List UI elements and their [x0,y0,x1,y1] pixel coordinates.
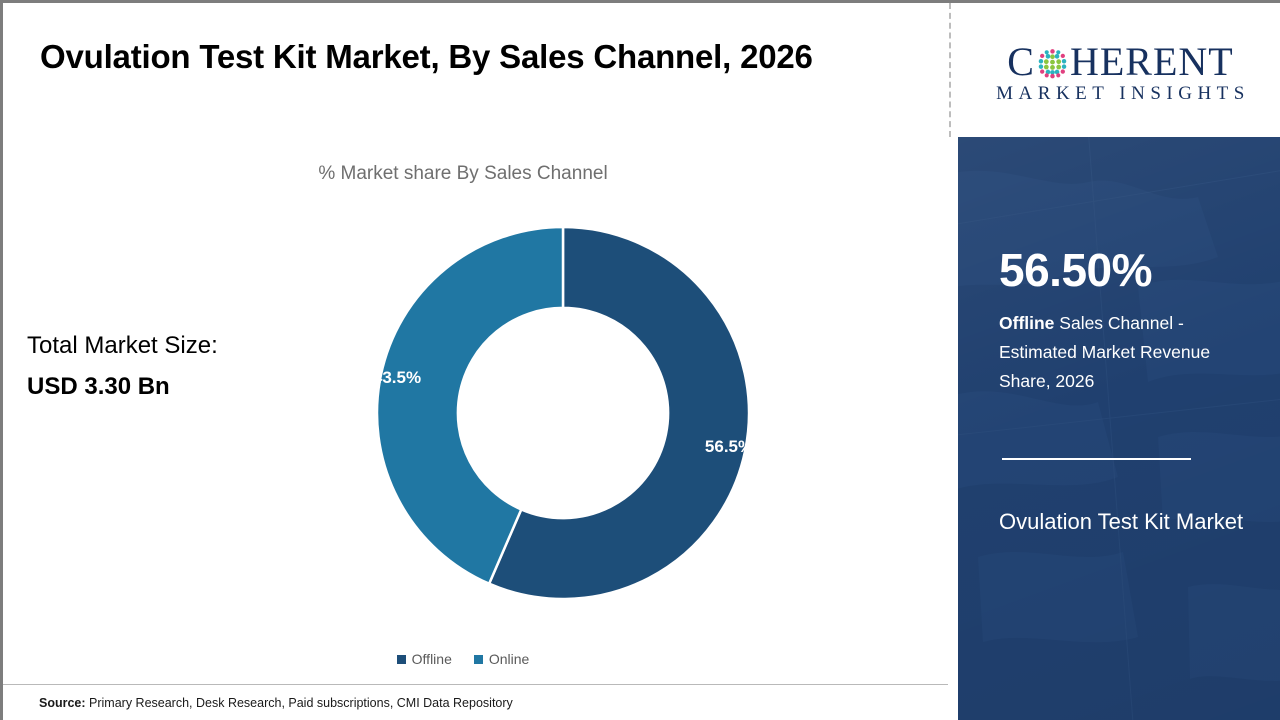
chart-legend: OfflineOnline [3,651,923,667]
market-size-value: USD 3.30 Bn [27,367,327,408]
total-market-size: Total Market Size: USD 3.30 Bn [27,326,327,408]
brand-tagline: MARKET INSIGHTS [991,83,1250,105]
legend-swatch-online [474,655,483,664]
donut-label-offline: 56.5% [705,437,753,456]
globe-dots-icon [1036,46,1069,79]
stat-panel: 56.50% Offline Sales Channel - Estimated… [958,137,1280,720]
market-name-label: Ovulation Test Kit Market [999,502,1244,543]
legend-item-online[interactable]: Online [474,651,529,667]
source-note: Source: Primary Research, Desk Research,… [39,696,513,710]
market-size-label: Total Market Size: [27,326,327,367]
legend-swatch-offline [397,655,406,664]
chart-subtitle: % Market share By Sales Channel [3,163,923,185]
infographic-root: Ovulation Test Kit Market, By Sales Chan… [0,0,1280,720]
legend-item-offline[interactable]: Offline [397,651,452,667]
legend-label: Online [489,651,529,667]
stat-caption: Offline Sales Channel - Estimated Market… [999,309,1249,396]
panel-divider-dashed [949,3,951,137]
source-text: Primary Research, Desk Research, Paid su… [86,696,513,710]
stat-divider-line [1002,458,1191,460]
brand-name-part1: C [1007,42,1035,82]
donut-chart: 56.5% 43.5% [373,223,753,603]
donut-chart-svg: 56.5% 43.5% [373,223,753,603]
footer-divider [3,684,948,685]
stat-headline-number: 56.50% [999,247,1152,293]
donut-label-online: 43.5% [373,368,421,387]
brand-wordmark: C [1007,42,1233,82]
source-label: Source: [39,696,86,710]
panel-gradient-overlay [958,137,1280,720]
brand-logo[interactable]: C [958,3,1280,137]
brand-name-part2: HERENT [1070,42,1234,82]
world-map-texture [958,137,1280,720]
right-panel: C [958,3,1280,720]
page-title: Ovulation Test Kit Market, By Sales Chan… [40,31,870,82]
left-panel: Ovulation Test Kit Market, By Sales Chan… [3,3,948,720]
legend-label: Offline [412,651,452,667]
stat-caption-bold: Offline [999,313,1054,333]
